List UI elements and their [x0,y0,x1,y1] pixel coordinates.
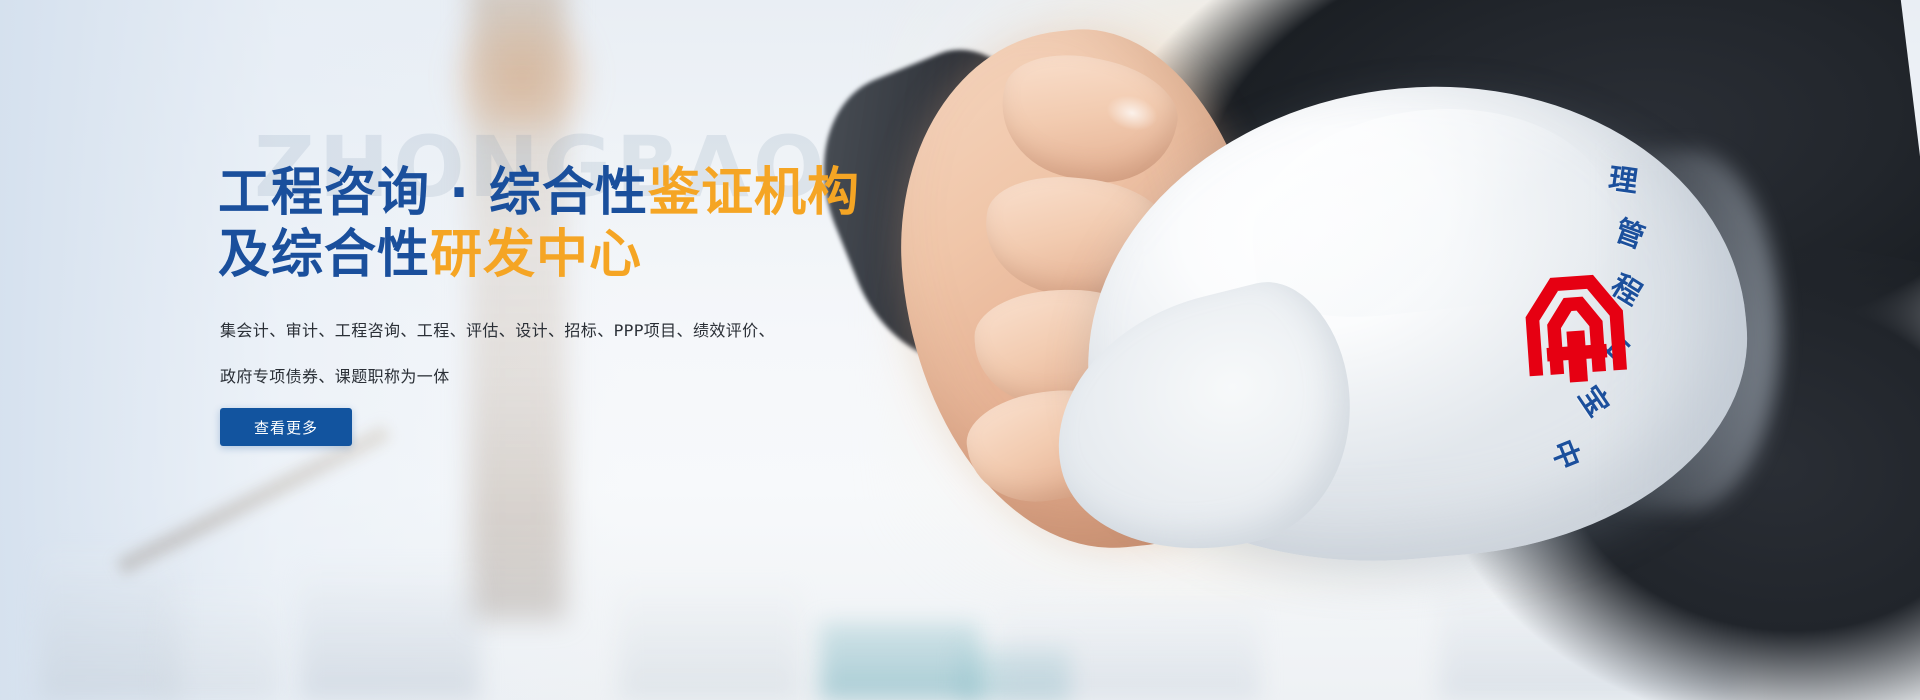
headline-line-2-orange: 研发中心 [430,225,642,285]
headline-line-1-orange: 鉴证机构 [648,163,860,223]
headline-line-2-blue: 及综合性 [218,225,430,285]
headline: 工程咨询 · 综合性鉴证机构 及综合性研发中心 [218,162,978,286]
zhongbao-hexagon-logo-icon [1495,245,1655,405]
lead-line-1: 集会计、审计、工程咨询、工程、评估、设计、招标、PPP项目、绩效评价、 [220,308,820,354]
headline-line-1: 工程咨询 · 综合性鉴证机构 [218,162,978,224]
lead-line-2: 政府专项债券、课题职称为一体 [220,354,820,400]
helmet-char: 理 [1606,155,1641,201]
hero-banner: 中 宝 工 程 管 理 ZHONGBAO 工程咨询 · 综合性鉴证机构 及综合性… [0,0,1920,700]
hero-content: ZHONGBAO 工程咨询 · 综合性鉴证机构 及综合性研发中心 集会计、审计、… [218,0,978,700]
view-more-button[interactable]: 查看更多 [220,408,352,446]
lead-paragraph: 集会计、审计、工程咨询、工程、评估、设计、招标、PPP项目、绩效评价、 政府专项… [220,308,820,400]
headline-line-1-blue: 工程咨询 · 综合性 [218,163,648,223]
background-building [40,550,180,700]
headline-line-2: 及综合性研发中心 [218,224,978,286]
